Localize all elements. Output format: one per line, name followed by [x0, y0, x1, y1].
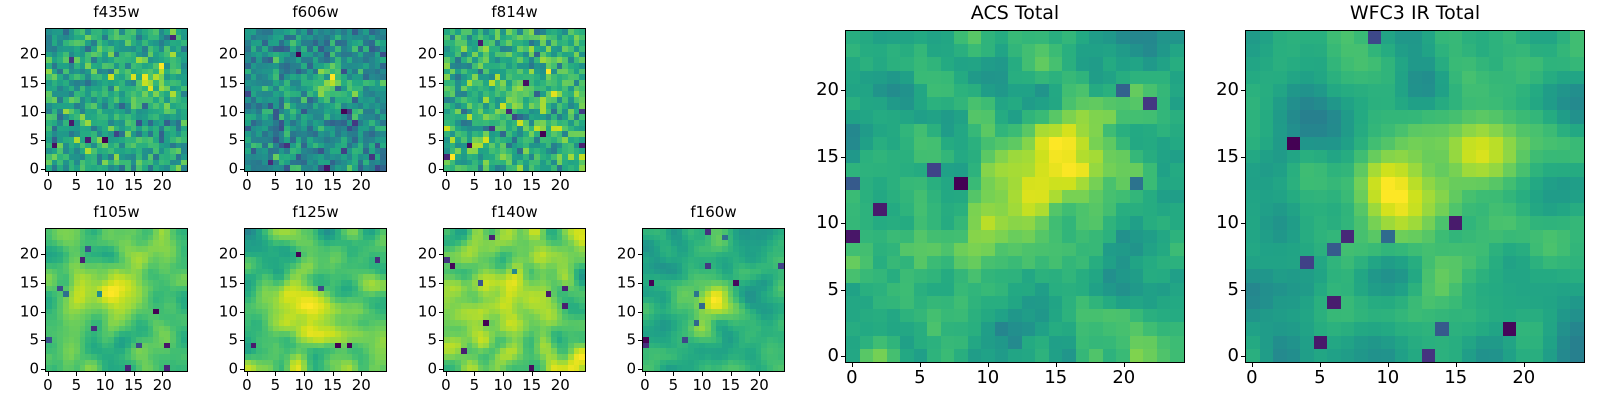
figure-canvas: f435w0510152005101520f606w05101520051015… [0, 0, 1600, 400]
ytick-label-wfc3_ir_total-5: 5 [1193, 281, 1239, 299]
axes-wfc3_ir_total [1245, 30, 1585, 363]
panel-title-wfc3_ir_total: WFC3 IR Total [1245, 4, 1585, 23]
ytick-label-wfc3_ir_total-20: 20 [1193, 81, 1239, 99]
ytick-label-wfc3_ir_total-0: 0 [1193, 347, 1239, 365]
ytick-wfc3_ir_total-15 [1241, 157, 1245, 158]
ytick-wfc3_ir_total-10 [1241, 223, 1245, 224]
xtick-label-wfc3_ir_total-20: 20 [1512, 369, 1535, 387]
xtick-label-wfc3_ir_total-15: 15 [1444, 369, 1467, 387]
ytick-label-wfc3_ir_total-10: 10 [1193, 214, 1239, 232]
ytick-wfc3_ir_total-5 [1241, 290, 1245, 291]
xtick-label-wfc3_ir_total-5: 5 [1314, 369, 1325, 387]
heatmap-wfc3_ir_total [1246, 31, 1584, 362]
ytick-wfc3_ir_total-0 [1241, 356, 1245, 357]
xtick-label-wfc3_ir_total-10: 10 [1376, 369, 1399, 387]
ytick-label-wfc3_ir_total-15: 15 [1193, 148, 1239, 166]
panel-wfc3_ir_total: WFC3 IR Total0510152005101520 [0, 0, 1600, 400]
xtick-label-wfc3_ir_total-0: 0 [1246, 369, 1257, 387]
ytick-wfc3_ir_total-20 [1241, 90, 1245, 91]
